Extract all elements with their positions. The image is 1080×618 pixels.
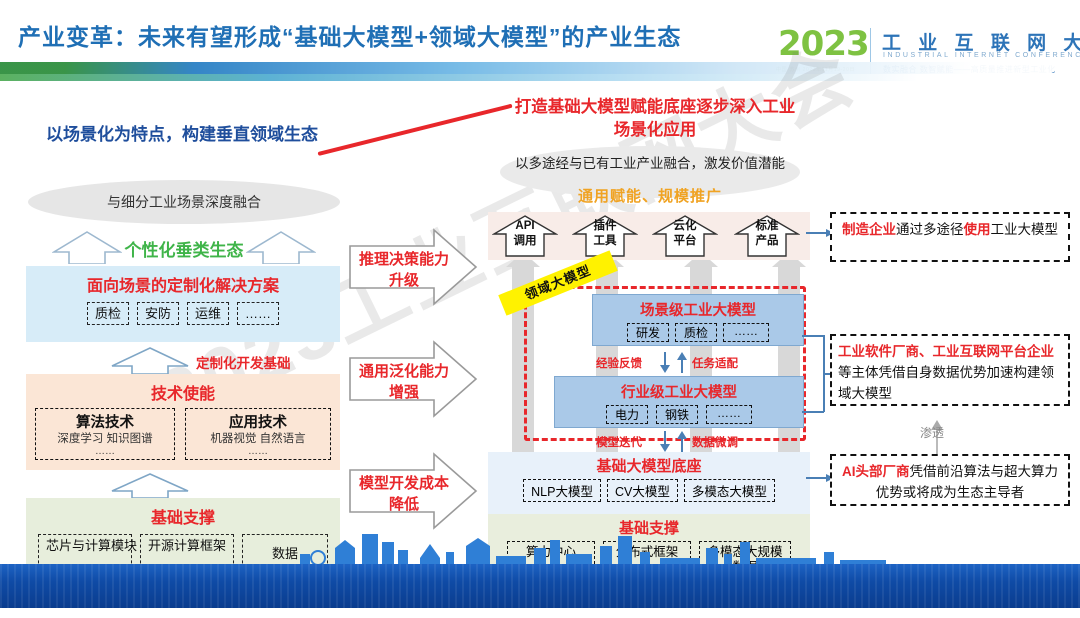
dash-item: 安防 xyxy=(137,302,179,325)
center-headline: 打造基础大模型赋能底座逐步深入工业场景化应用 xyxy=(510,96,800,142)
left-panel1-title: 面向场景的定制化解决方案 xyxy=(27,267,339,296)
dash-item: 质检 xyxy=(675,323,717,342)
dash-item: …… xyxy=(706,405,752,424)
arrow-up-icon xyxy=(676,352,688,374)
flow-label-task-adapt: 任务适配 xyxy=(692,355,738,371)
header-rule-secondary xyxy=(0,74,1080,81)
transition-arrow-3-label: 模型开发成本降低 xyxy=(356,473,452,515)
tech-group-sub: 机器视觉 自然语言 xyxy=(192,432,324,446)
scene-model-box: 场景级工业大模型 研发 质检 …… xyxy=(592,294,804,346)
left-arrow1-label: 个性化垂类生态 xyxy=(28,236,340,261)
left-ellipse-text: 与细分工业场景深度融合 xyxy=(28,192,340,212)
callout-part-red: 使用 xyxy=(964,222,991,237)
header-rule-primary xyxy=(0,62,1080,74)
seep-label: 渗透 xyxy=(920,424,944,441)
base-model-title: 基础大模型底座 xyxy=(488,452,810,476)
left-panel1-items: 质检 安防 运维 …… xyxy=(27,296,339,333)
api-cell-label: 云化 平台 xyxy=(652,219,718,249)
bottom-blue-band xyxy=(0,564,1080,608)
transition-arrow-2-label: 通用泛化能力增强 xyxy=(356,361,452,403)
transition-arrow-2: 通用泛化能力增强 xyxy=(348,340,478,423)
api-cell-label: API 调用 xyxy=(492,219,558,249)
left-arrow-up-4 xyxy=(110,472,190,498)
tech-group-more: …… xyxy=(42,446,168,457)
dash-item: 研发 xyxy=(627,323,669,342)
logo-chinese-name: 工 业 互 联 网 大 会 xyxy=(882,28,1080,55)
left-panel-solutions: 面向场景的定制化解决方案 质检 安防 运维 …… xyxy=(26,266,340,342)
api-cell-line2: 工具 xyxy=(594,235,617,247)
transition-arrow-3: 模型开发成本降低 xyxy=(348,452,478,535)
arrow-down-icon xyxy=(659,431,671,453)
industry-model-box: 行业级工业大模型 电力 钢铁 …… xyxy=(554,376,804,428)
api-cell-line2: 调用 xyxy=(514,235,537,247)
left-arrow2-label: 定制化开发基础 xyxy=(196,352,291,372)
api-cell: API 调用 xyxy=(492,214,558,258)
tech-group-more: …… xyxy=(192,446,324,457)
flow-label-model-iteration: 模型迭代 xyxy=(596,434,642,450)
callout-manufacturing: 制造企业通过多途径使用工业大模型 xyxy=(830,212,1070,262)
left-panel2-title: 技术使能 xyxy=(27,375,339,404)
dash-item: 多模态大模型 xyxy=(684,479,775,502)
callout-part-red: AI头部厂商 xyxy=(842,464,910,479)
dash-item: 电力 xyxy=(606,405,648,424)
callout-software-vendors: 工业软件厂商、工业互联网平台企业等主体凭借自身数据优势加速构建领域大模型 xyxy=(830,334,1070,406)
tech-group-title: 应用技术 xyxy=(192,411,324,432)
flow-label-feedback: 经验反馈 xyxy=(596,355,642,371)
logo-year: 2023 xyxy=(778,26,869,62)
tech-group: 应用技术 机器视觉 自然语言 …… xyxy=(185,408,331,460)
tech-group: 算法技术 深度学习 知识图谱 …… xyxy=(35,408,175,460)
industry-model-title: 行业级工业大模型 xyxy=(555,377,803,402)
arrow-down-icon xyxy=(659,352,671,374)
tech-group-title: 算法技术 xyxy=(42,411,168,432)
api-cell-line1: 标准 xyxy=(756,220,779,232)
left-arrow-up-3 xyxy=(110,346,190,374)
callout-part: 通过多途径 xyxy=(896,222,964,237)
logo-english-name: INDUSTRIAL INTERNET CONFERENCE xyxy=(883,52,1080,59)
dash-item: NLP大模型 xyxy=(523,479,601,502)
transition-arrow-1: 推理决策能力升级 xyxy=(348,228,478,311)
callout-part-red: 工业软件厂商、工业互联网平台企业 xyxy=(838,344,1054,359)
api-cell-line2: 平台 xyxy=(674,235,697,247)
flow-label-data-finetune: 数据微调 xyxy=(692,434,738,450)
slide-root: 产业变革：未来有望形成“基础大模型+领域大模型”的产业生态 2023 中国·苏州… xyxy=(0,0,1080,608)
api-cell: 云化 平台 xyxy=(652,214,718,258)
dash-item: 钢铁 xyxy=(656,405,698,424)
api-cell-line1: 云化 xyxy=(674,220,697,232)
center-orange-text: 通用赋能、规模推广 xyxy=(500,185,800,206)
api-cell-label: 插件 工具 xyxy=(572,219,638,249)
slide-header: 产业变革：未来有望形成“基础大模型+领域大模型”的产业生态 2023 中国·苏州… xyxy=(0,0,1080,88)
tech-group-sub: 深度学习 知识图谱 xyxy=(42,432,168,446)
callout-ai-leaders: AI头部厂商凭借前沿算法与超大算力优势或将成为生态主导者 xyxy=(830,454,1070,506)
dash-item: CV大模型 xyxy=(607,479,678,502)
api-cell-label: 标准 产品 xyxy=(734,219,800,249)
dash-item: …… xyxy=(237,302,279,325)
base-model-box: 基础大模型底座 NLP大模型 CV大模型 多模态大模型 xyxy=(488,452,810,514)
api-cell-line1: 插件 xyxy=(594,220,617,232)
callout-part: 工业大模型 xyxy=(991,222,1059,237)
center-ellipse-text: 以多途经与已有工业产业融合，激发价值潜能 xyxy=(500,147,800,173)
red-pointer-line xyxy=(318,104,513,156)
api-cell-line2: 产品 xyxy=(756,235,779,247)
left-panel3-title: 基础支撑 xyxy=(27,499,339,528)
page-title: 产业变革：未来有望形成“基础大模型+领域大模型”的产业生态 xyxy=(18,18,818,52)
api-cell: 标准 产品 xyxy=(734,214,800,258)
dash-item: …… xyxy=(723,323,769,342)
dash-item: 质检 xyxy=(87,302,129,325)
dash-item: 运维 xyxy=(187,302,229,325)
arrow-up-icon xyxy=(676,431,688,453)
transition-arrow-1-label: 推理决策能力升级 xyxy=(356,249,452,291)
api-cell-line1: API xyxy=(515,220,534,232)
scene-model-title: 场景级工业大模型 xyxy=(593,295,803,320)
left-panel-tech: 技术使能 算法技术 深度学习 知识图谱 …… 应用技术 机器视觉 自然语言 …… xyxy=(26,374,340,470)
left-headline: 以场景化为特点，构建垂直领域生态 xyxy=(42,122,322,147)
callout-part: 等主体凭借自身数据优势加速构建领域大模型 xyxy=(838,365,1054,401)
callout-part-red: 制造企业 xyxy=(842,222,896,237)
